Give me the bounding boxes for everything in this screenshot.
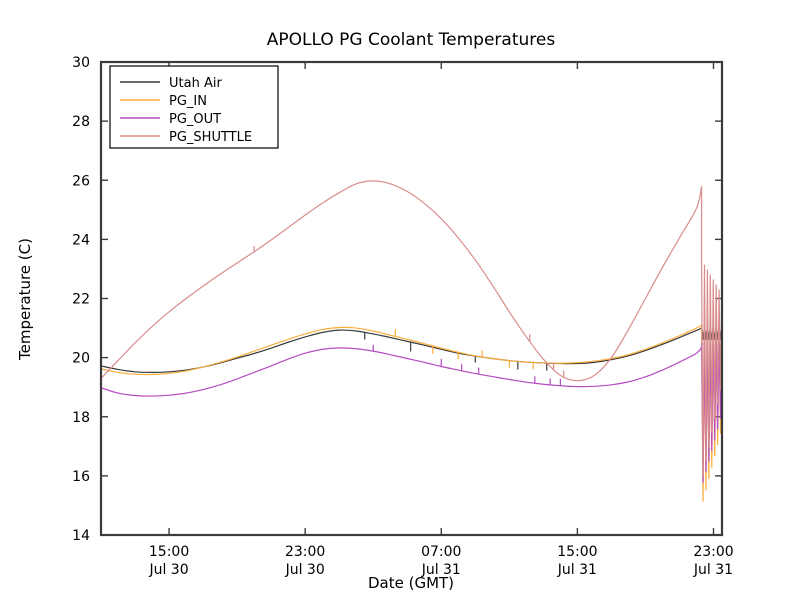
y-tick-label: 26 xyxy=(72,173,90,189)
y-tick-label: 30 xyxy=(72,55,90,71)
x-tick-label-date: Jul 31 xyxy=(557,562,597,578)
legend-label-pg-out: PG_OUT xyxy=(169,112,221,127)
x-tick-label-date: Jul 31 xyxy=(693,562,733,578)
chart-svg: APOLLO PG Coolant Temperatures Temperatu… xyxy=(0,0,800,600)
y-tick-label: 28 xyxy=(72,114,90,130)
chart-legend: Utah AirPG_INPG_OUTPG_SHUTTLE xyxy=(110,66,278,148)
y-axis-label: Temperature (C) xyxy=(16,238,34,361)
x-tick-label-time: 23:00 xyxy=(285,544,325,560)
x-tick-label-time: 07:00 xyxy=(421,544,461,560)
x-tick-label-date: Jul 30 xyxy=(148,562,188,578)
legend-label-pg-shuttle: PG_SHUTTLE xyxy=(169,130,252,145)
y-tick-label: 24 xyxy=(72,232,90,248)
y-tick-label: 18 xyxy=(72,410,90,426)
x-tick-label-date: Jul 31 xyxy=(421,562,461,578)
x-tick-label-date: Jul 30 xyxy=(285,562,325,578)
chart-figure: APOLLO PG Coolant Temperatures Temperatu… xyxy=(0,0,800,600)
y-tick-label: 22 xyxy=(72,292,90,308)
legend-label-utah air: Utah Air xyxy=(169,76,222,91)
y-tick-label: 16 xyxy=(72,469,90,485)
y-tick-label: 20 xyxy=(72,351,90,367)
chart-title: APOLLO PG Coolant Temperatures xyxy=(267,30,556,50)
x-tick-label-time: 23:00 xyxy=(693,544,733,560)
legend-label-pg-in: PG_IN xyxy=(169,94,207,109)
y-tick-label: 14 xyxy=(72,528,90,544)
x-tick-label-time: 15:00 xyxy=(149,544,189,560)
x-tick-label-time: 15:00 xyxy=(557,544,597,560)
